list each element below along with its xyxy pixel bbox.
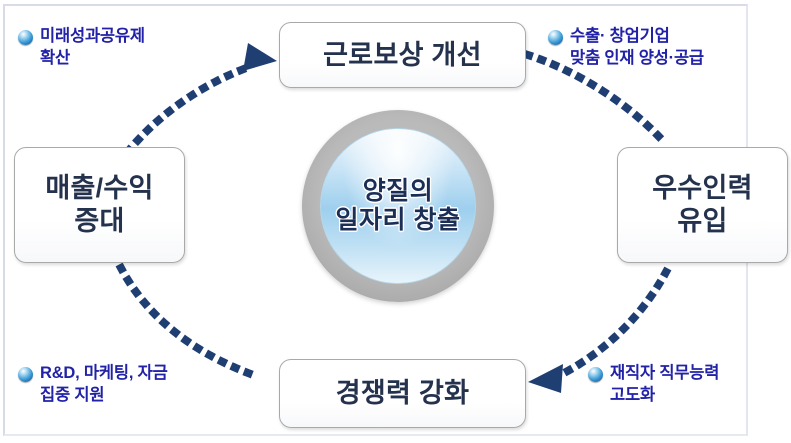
- sphere-bullet-icon: [18, 367, 33, 382]
- annotation-top-left: 미래성과공유제 확산: [18, 26, 248, 70]
- sphere-bullet-icon: [18, 30, 33, 45]
- annotation-bottom-left: R&D, 마케팅, 자금 집중 지원: [18, 363, 258, 407]
- annotation-top-right: 수출· 창업기업 맞춤 인재 양성·공급: [548, 26, 788, 70]
- annotation-top-right-text: 수출· 창업기업 맞춤 인재 양성·공급: [570, 26, 704, 70]
- connector-bottom-to-left: [121, 268, 256, 376]
- hub-label-line1: 양질의: [363, 177, 434, 207]
- hub-label-line2: 일자리 창출: [336, 206, 461, 236]
- annotation-bottom-right-text: 재직자 직무능력 고도화: [610, 363, 719, 407]
- diagram-canvas: 양질의 일자리 창출 근로보상 개선 매출/수익 증대 우수인력 유입 경쟁력 …: [0, 0, 791, 443]
- annotation-bottom-right: 재직자 직무능력 고도화: [588, 363, 791, 407]
- sphere-bullet-icon: [588, 367, 603, 382]
- node-left-label: 매출/수익 증대: [45, 172, 153, 238]
- annotation-top-left-text: 미래성과공유제 확산: [40, 26, 145, 70]
- center-hub: 양질의 일자리 창출: [302, 110, 494, 302]
- node-box-top[interactable]: 근로보상 개선: [279, 22, 526, 88]
- node-box-bottom[interactable]: 경쟁력 강화: [279, 359, 526, 428]
- annotation-bottom-left-text: R&D, 마케팅, 자금 집중 지원: [40, 363, 168, 407]
- hub-core: 양질의 일자리 창출: [320, 128, 476, 284]
- node-box-right[interactable]: 우수인력 유입: [617, 147, 788, 263]
- node-box-left[interactable]: 매출/수익 증대: [14, 147, 185, 263]
- node-right-label: 우수인력 유입: [652, 172, 753, 238]
- node-top-label: 근로보상 개선: [323, 39, 482, 72]
- sphere-bullet-icon: [548, 30, 563, 45]
- node-bottom-label: 경쟁력 강화: [336, 377, 470, 410]
